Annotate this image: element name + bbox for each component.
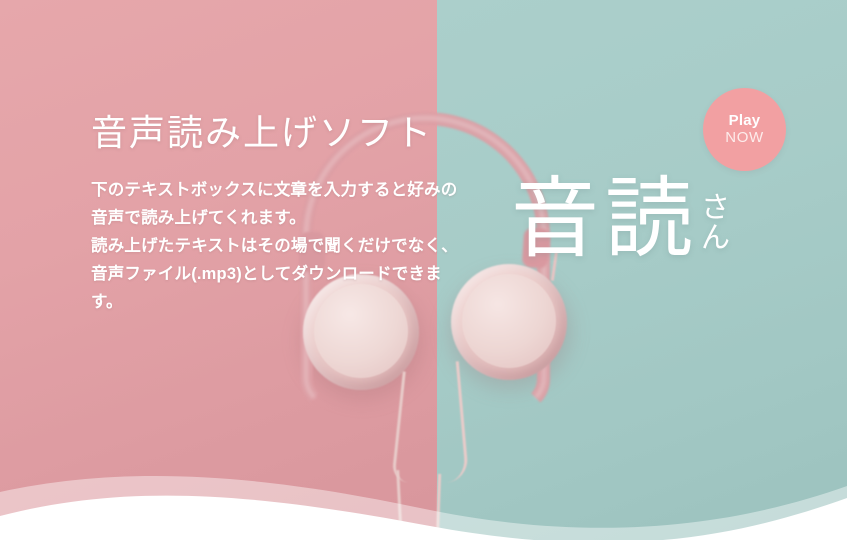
hero-description: 下のテキストボックスに文章を入力すると好みの 音声で読み上げてくれます。 読み上… — [91, 154, 491, 316]
brand-logo-suffix: さ ん — [701, 176, 730, 253]
brand-logo: 音読 さ ん — [511, 176, 730, 262]
hero-banner: 音声読み上げソフト 下のテキストボックスに文章を入力すると好みの 音声で読み上げ… — [0, 0, 847, 540]
brand-logo-suffix-bottom: ん — [701, 224, 730, 254]
hero-description-line-3: 読み上げたテキストはその場で聞くだけでなく、 — [91, 237, 458, 255]
hero-description-line-4: 音声ファイル(.mp3)としてダウンロードできま — [91, 265, 442, 283]
hero-copy: 音声読み上げソフト 下のテキストボックスに文章を入力すると好みの 音声で読み上げ… — [91, 112, 491, 316]
play-now-label-secondary: NOW — [725, 129, 763, 146]
wave-front-path — [0, 496, 847, 540]
page-title: 音声読み上げソフト — [91, 112, 491, 154]
wave-divider-front — [0, 420, 847, 540]
hero-description-line-5: す。 — [91, 293, 123, 311]
brand-logo-suffix-top: さ — [701, 194, 730, 224]
hero-description-line-2: 音声で読み上げてくれます。 — [91, 209, 306, 227]
play-now-label-primary: Play — [729, 113, 761, 129]
brand-logo-main: 音読 — [511, 176, 699, 262]
hero-description-line-1: 下のテキストボックスに文章を入力すると好みの — [91, 181, 457, 199]
play-now-button[interactable]: Play NOW — [703, 88, 786, 171]
